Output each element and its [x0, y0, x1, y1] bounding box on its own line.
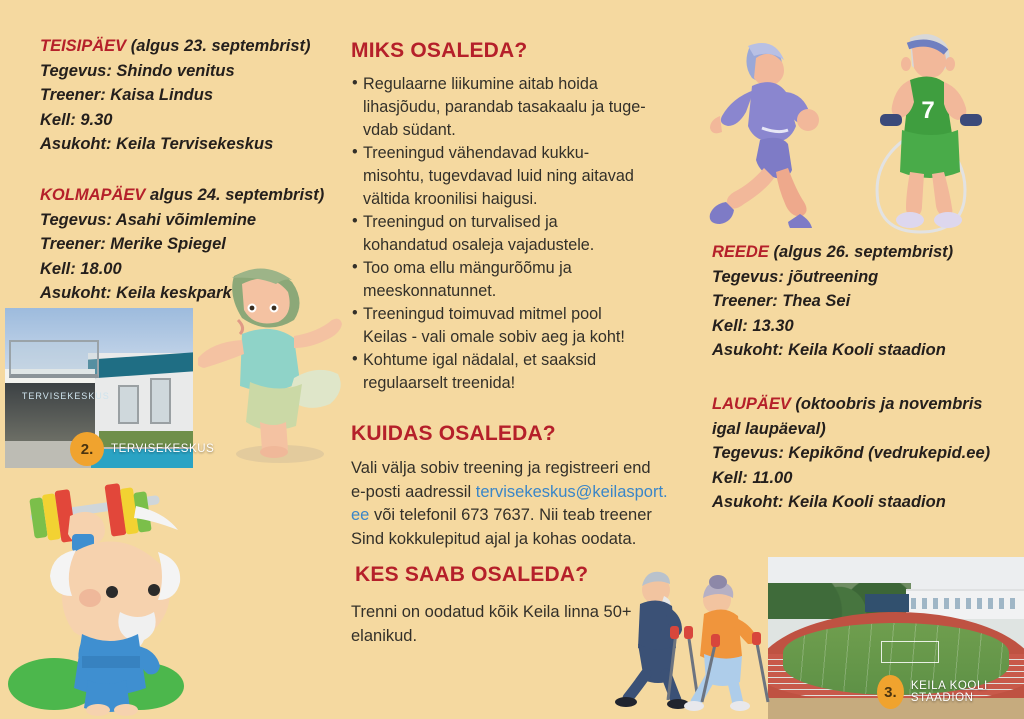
list-item-line: Treeningud on turvalised ja — [363, 211, 641, 234]
schedule-detail: Kell: 13.30 — [712, 314, 953, 339]
list-item: • Too oma ellu mängurõõmu ja meeskonnatu… — [351, 257, 641, 303]
list-item: • Kohtume igal nädalal, et saaksid regul… — [351, 349, 641, 395]
who-can-participate-text: Trenni on oodatud kõik Keila linna 50+ e… — [351, 601, 651, 648]
list-item: • Treeningud vähendavad kukku- misohtu, … — [351, 142, 641, 211]
schedule-detail: Asukoht: Keila Kooli staadion — [712, 490, 990, 515]
list-item-line: regulaarselt treenida! — [363, 372, 641, 395]
schedule-detail: Kell: 11.00 — [712, 466, 990, 491]
list-item-line: meeskonnatunnet. — [363, 280, 641, 303]
list-item: • Regulaarne liikumine aitab hoida lihas… — [351, 73, 641, 142]
walking-pole — [688, 632, 698, 700]
photo-badge-caption: KEILA KOOLI STAADION — [911, 680, 1024, 704]
schedule-day-name: KOLMAPÄEV — [40, 186, 145, 204]
illustration-dumbbell-man — [8, 470, 194, 718]
photo-badge-tervisekeskus: 2. TERVISEKESKUS — [70, 432, 214, 466]
schedule-detail: Tegevus: Shindo venitus — [40, 59, 311, 84]
yoga-figure — [198, 268, 342, 463]
schedule-day-note: (algus 26. septembrist) — [769, 243, 953, 261]
rope-handle — [960, 114, 982, 126]
photo-badge-number: 3. — [877, 675, 904, 709]
schedule-detail: Asukoht: Keila Kooli staadion — [712, 338, 953, 363]
schedule-block-friday: REEDE (algus 26. septembrist) Tegevus: j… — [712, 240, 953, 363]
schedule-detail: Treener: Merike Spiegel — [40, 232, 324, 257]
jump-rope-figure: 7 — [877, 34, 982, 232]
hair-bun — [709, 575, 727, 589]
running-woman-figure — [710, 43, 819, 228]
schedule-detail: Tegevus: Kepikõnd (vedrukepid.ee) — [712, 441, 990, 466]
text-line: elanikud. — [351, 625, 651, 649]
photo-window — [150, 378, 171, 424]
photo-goal — [881, 641, 939, 662]
walker-woman — [684, 575, 768, 711]
list-item-line: vdab südant. — [363, 119, 641, 142]
schedule-day-line: LAUPÄEV (oktoobris ja novembris — [712, 392, 990, 417]
heading-who-can-participate: KES SAAB OSALEDA? — [355, 563, 588, 587]
heading-how-participate: KUIDAS OSALEDA? — [351, 422, 556, 446]
photo-building-sign: TERVISEKESKUS — [22, 391, 110, 401]
rope-handle — [880, 114, 902, 126]
text-segment: e-posti aadressil — [351, 483, 476, 501]
schedule-day-name: TEISIPÄEV — [40, 37, 126, 55]
schedule-detail: Asukoht: Keila Tervisekeskus — [40, 132, 311, 157]
text-line: Vali välja sobiv treening ja registreeri… — [351, 457, 651, 481]
photo-secondary-building — [865, 594, 909, 612]
list-item-line: misohtu, tugevdavad luid ning aitavad — [363, 165, 641, 188]
schedule-day-note: (algus 23. septembrist) — [126, 37, 310, 55]
text-line: Trenni on oodatud kõik Keila linna 50+ — [351, 601, 651, 625]
photo-badge-number: 2. — [70, 432, 104, 466]
poster-page: TEISIPÄEV (algus 23. septembrist) Tegevu… — [0, 0, 1024, 719]
walker-man — [615, 572, 698, 709]
text-segment: või telefonil 673 7637. Nii teab treener — [369, 506, 652, 524]
email-link-cont[interactable]: ee — [351, 506, 369, 524]
list-item: • Treeningud on turvalised ja kohandatud… — [351, 211, 641, 257]
schedule-day-note-2: igal laupäeval) — [712, 417, 990, 442]
list-item-line: Keilas - vali omale sobiv aeg ja koht! — [363, 326, 641, 349]
schedule-day-note: algus 24. septembrist) — [145, 186, 324, 204]
text-line: e-posti aadressil tervisekeskus@keilaspo… — [351, 481, 651, 505]
schedule-day-name: LAUPÄEV — [712, 395, 791, 413]
photo-badge-staadion: 3. KEILA KOOLI STAADION — [877, 675, 1024, 709]
bullet-icon: • — [352, 210, 358, 233]
list-item-line: Too oma ellu mängurõõmu ja — [363, 257, 641, 280]
bullet-icon: • — [352, 72, 358, 95]
schedule-day-note: (oktoobris ja novembris — [791, 395, 983, 413]
list-item-line: Regulaarne liikumine aitab hoida — [363, 73, 641, 96]
dumbbell-figure — [8, 483, 184, 716]
schedule-block-tuesday: TEISIPÄEV (algus 23. septembrist) Tegevu… — [40, 34, 311, 157]
pole-grip — [711, 634, 720, 647]
list-item-line: Treeningud vähendavad kukku- — [363, 142, 641, 165]
schedule-detail: Kell: 9.30 — [40, 108, 311, 133]
schedule-day-line: KOLMAPÄEV algus 24. septembrist) — [40, 183, 324, 208]
schedule-day-line: REEDE (algus 26. septembrist) — [712, 240, 953, 265]
list-item-line: Kohtume igal nädalal, et saaksid — [363, 349, 641, 372]
list-item-line: vältida kroonilisi haigusi. — [363, 188, 641, 211]
text-line: Sind kokkulepitud ajal ja kohas oodata. — [351, 528, 651, 552]
schedule-detail: Treener: Kaisa Lindus — [40, 83, 311, 108]
pole-grip — [670, 626, 679, 639]
photo-railing — [9, 340, 99, 378]
illustration-running-woman — [690, 28, 830, 228]
schedule-block-saturday: LAUPÄEV (oktoobris ja novembris igal lau… — [712, 392, 990, 515]
schedule-day-line: TEISIPÄEV (algus 23. septembrist) — [40, 34, 311, 59]
schedule-day-name: REEDE — [712, 243, 769, 261]
photo-window — [118, 385, 139, 424]
illustration-yoga-woman — [198, 258, 358, 470]
schedule-detail: Tegevus: Asahi võimlemine — [40, 208, 324, 233]
walking-pole — [756, 638, 768, 702]
list-item-line: kohandatud osaleja vajadustele. — [363, 234, 641, 257]
list-item: • Treeningud toimuvad mitmel pool Keilas… — [351, 303, 641, 349]
pole-grip — [684, 626, 693, 639]
how-participate-text: Vali välja sobiv treening ja registreeri… — [351, 457, 651, 551]
illustration-jump-rope-man: 7 — [852, 22, 1012, 234]
photo-school-windows — [911, 598, 1019, 609]
text-line: ee või telefonil 673 7637. Nii teab tree… — [351, 504, 651, 528]
email-link[interactable]: tervisekeskus@keilasport. — [476, 483, 668, 501]
illustration-nordic-walking-pair — [612, 556, 782, 719]
jersey-number: 7 — [921, 97, 934, 124]
pole-grip — [752, 632, 761, 645]
why-bullet-list: • Regulaarne liikumine aitab hoida lihas… — [351, 73, 641, 395]
bullet-icon: • — [352, 141, 358, 164]
schedule-detail: Tegevus: jõutreening — [712, 265, 953, 290]
heading-why-participate: MIKS OSALEDA? — [351, 39, 527, 63]
schedule-detail: Treener: Thea Sei — [712, 289, 953, 314]
list-item-line: lihasjõudu, parandab tasakaalu ja tuge- — [363, 96, 641, 119]
list-item-line: Treeningud toimuvad mitmel pool — [363, 303, 641, 326]
